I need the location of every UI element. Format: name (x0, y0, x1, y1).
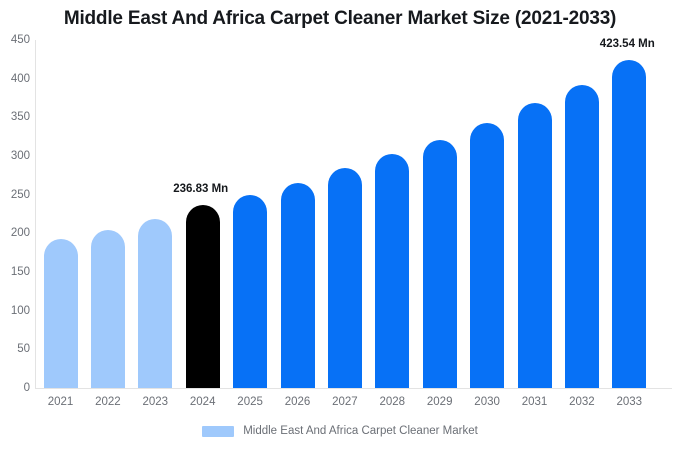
bar-2030[interactable] (470, 123, 504, 388)
bar-2027[interactable] (328, 168, 362, 388)
bar-2024[interactable] (186, 205, 220, 388)
chart-legend: Middle East And Africa Carpet Cleaner Ma… (0, 425, 680, 437)
y-axis-tick-450: 450 (0, 34, 30, 46)
bar-2033[interactable] (612, 60, 646, 388)
y-axis-tick-250: 250 (0, 189, 30, 201)
bar-2021[interactable] (44, 239, 78, 388)
legend-swatch-icon (202, 426, 234, 437)
x-axis-tick-2033: 2033 (599, 396, 659, 408)
bar-2022[interactable] (91, 230, 125, 388)
y-axis-tick-350: 350 (0, 111, 30, 123)
y-axis-tick-300: 300 (0, 150, 30, 162)
y-axis-tick-50: 50 (0, 343, 30, 355)
bar-2026[interactable] (281, 183, 315, 388)
bar-2031[interactable] (518, 103, 552, 388)
y-axis-tick-0: 0 (0, 382, 30, 394)
y-axis-tick-labels: 450400350300250200150100500 (0, 0, 30, 450)
x-axis-line (35, 388, 672, 389)
bar-2025[interactable] (233, 195, 267, 388)
bar-value-label-2024: 236.83 Mn (173, 183, 228, 195)
bar-value-label-2033: 423.54 Mn (600, 38, 655, 50)
y-axis-tick-100: 100 (0, 305, 30, 317)
y-axis-tick-200: 200 (0, 227, 30, 239)
bar-2023[interactable] (138, 219, 172, 388)
bar-2028[interactable] (375, 154, 409, 388)
plot-area (35, 40, 672, 388)
y-axis-tick-150: 150 (0, 266, 30, 278)
y-axis-tick-400: 400 (0, 73, 30, 85)
bar-2029[interactable] (423, 140, 457, 388)
bar-2032[interactable] (565, 85, 599, 388)
chart-title: Middle East And Africa Carpet Cleaner Ma… (0, 8, 680, 30)
legend-label: Middle East And Africa Carpet Cleaner Ma… (243, 425, 478, 437)
bar-chart: Middle East And Africa Carpet Cleaner Ma… (0, 0, 680, 450)
